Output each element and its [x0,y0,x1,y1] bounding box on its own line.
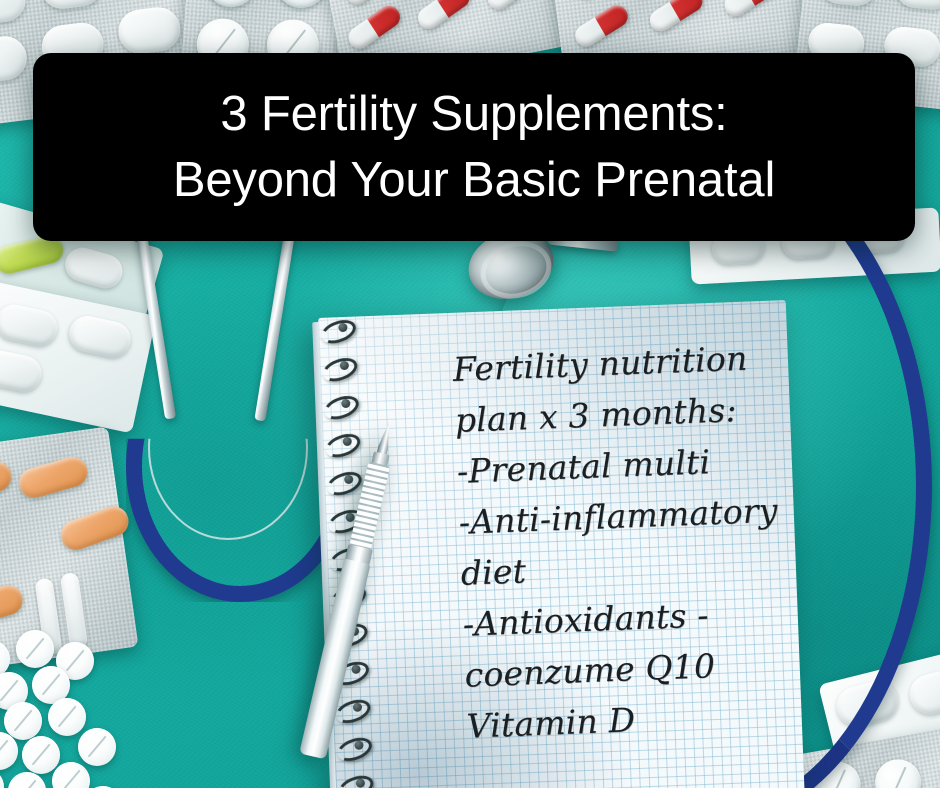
title-line-1: 3 Fertility Supplements: [220,81,727,147]
title-line-2: Beyond Your Basic Prenatal [173,147,775,213]
loose-white-tablets-bottom-left [0,636,190,788]
graphic-canvas: Fertility nutrition plan x 3 months: -Pr… [0,0,940,788]
title-overlay: 3 Fertility Supplements: Beyond Your Bas… [33,53,915,241]
pen-tip [376,421,393,456]
handwritten-note: Fertility nutrition plan x 3 months: -Pr… [452,332,767,751]
